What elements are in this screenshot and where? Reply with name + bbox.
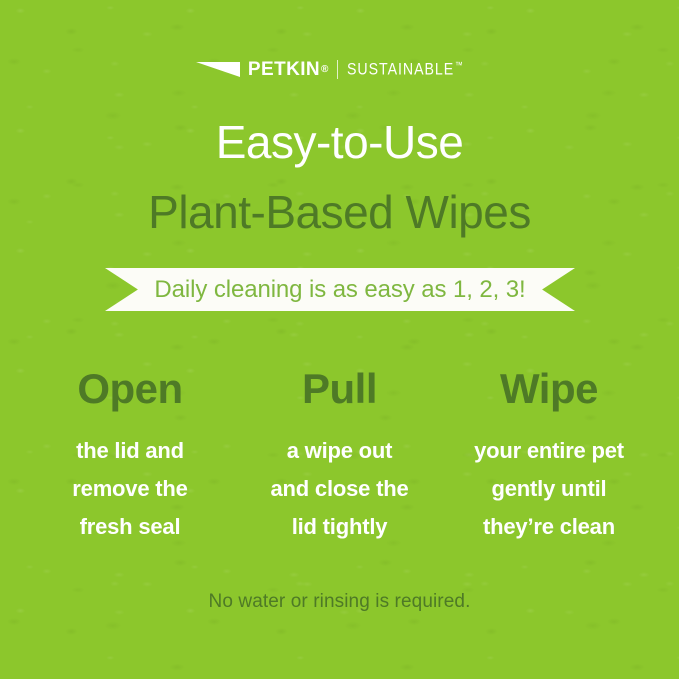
brand-name: PETKIN <box>248 60 320 79</box>
paper-texture-overlay <box>0 0 679 679</box>
step-body-line: gently until <box>449 470 649 508</box>
step-body-line: a wipe out <box>240 432 440 470</box>
footer-note: No water or rinsing is required. <box>0 591 679 614</box>
step-body-line: and close the <box>240 470 440 508</box>
headline-secondary: Plant-Based Wipes <box>0 188 679 238</box>
step-wipe: Wipe your entire pet gently until they’r… <box>449 368 649 546</box>
sub-brand-name: SUSTAINABLE™ <box>347 61 464 78</box>
step-body: the lid and remove the fresh seal <box>30 432 230 546</box>
step-body-line: fresh seal <box>30 508 230 546</box>
product-infographic: PETKIN ® SUSTAINABLE™ Easy-to-Use Plant-… <box>0 0 679 679</box>
step-title: Pull <box>240 368 440 410</box>
steps-row: Open the lid and remove the fresh seal P… <box>30 368 649 546</box>
brand-logo-bar: PETKIN ® SUSTAINABLE™ <box>0 57 679 81</box>
step-title: Open <box>30 368 230 410</box>
headline-primary: Easy-to-Use <box>0 118 679 168</box>
step-body-line: remove the <box>30 470 230 508</box>
logo-divider <box>337 60 338 79</box>
step-pull: Pull a wipe out and close the lid tightl… <box>240 368 440 546</box>
ribbon-text: Daily cleaning is as easy as 1, 2, 3! <box>105 268 575 311</box>
step-body-line: your entire pet <box>449 432 649 470</box>
step-title: Wipe <box>449 368 649 410</box>
step-body-line: they’re clean <box>449 508 649 546</box>
trademark-icon: ™ <box>455 60 464 70</box>
step-body-line: lid tightly <box>240 508 440 546</box>
step-body: a wipe out and close the lid tightly <box>240 432 440 546</box>
step-body-line: the lid and <box>30 432 230 470</box>
registered-trademark-icon: ® <box>321 64 328 75</box>
ribbon-banner: Daily cleaning is as easy as 1, 2, 3! <box>105 268 575 311</box>
step-body: your entire pet gently until they’re cle… <box>449 432 649 546</box>
step-open: Open the lid and remove the fresh seal <box>30 368 230 546</box>
petkin-wedge-icon <box>196 61 240 78</box>
